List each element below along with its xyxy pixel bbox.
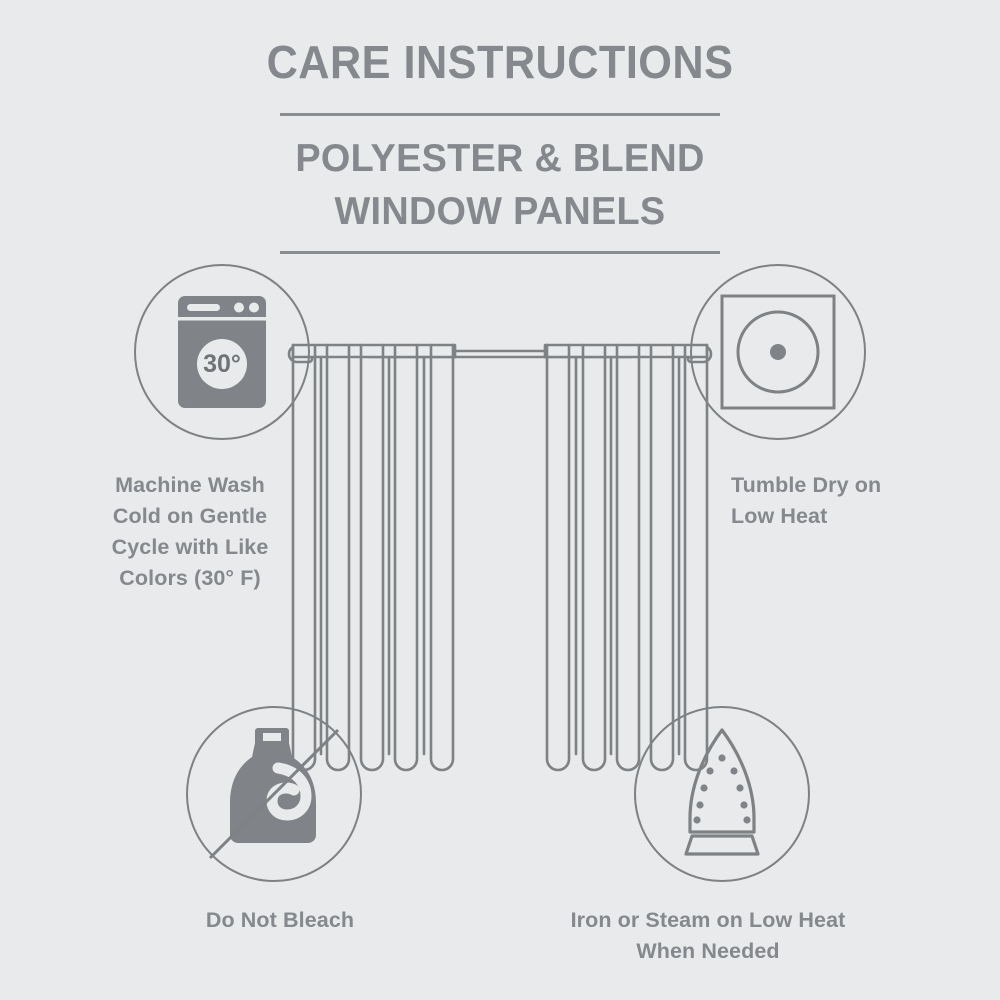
divider-bottom: [280, 251, 720, 254]
label-line: Colors (30° F): [60, 563, 320, 594]
washing-machine-icon: 30°: [134, 264, 310, 440]
tumble-dry-low-icon: [690, 264, 866, 440]
label-line: Cycle with Like: [60, 532, 320, 563]
instruction-icon-machine-wash: 30°: [134, 264, 310, 440]
instruction-label-iron: Iron or Steam on Low Heat When Needed: [528, 905, 888, 967]
instruction-label-machine-wash: Machine Wash Cold on Gentle Cycle with L…: [60, 470, 320, 594]
label-line: Tumble Dry on: [731, 470, 981, 501]
label-line: Low Heat: [731, 501, 981, 532]
wash-temperature-label: 30°: [203, 350, 241, 378]
no-bleach-icon: [186, 706, 362, 882]
label-line: Do Not Bleach: [155, 905, 405, 936]
label-line: Cold on Gentle: [60, 501, 320, 532]
label-line: Iron or Steam on Low Heat: [528, 905, 888, 936]
subtitle-line-1: POLYESTER & BLEND: [15, 132, 985, 185]
instruction-icon-tumble-dry: [690, 264, 866, 440]
subtitle-line-2: WINDOW PANELS: [15, 185, 985, 238]
divider-top: [280, 113, 720, 116]
care-instructions-infographic: CARE INSTRUCTIONS POLYESTER & BLEND WIND…: [0, 0, 1000, 1000]
instruction-icon-iron: [634, 706, 810, 882]
instruction-label-do-not-bleach: Do Not Bleach: [155, 905, 405, 936]
instruction-label-tumble-dry: Tumble Dry on Low Heat: [731, 470, 981, 532]
label-line: When Needed: [528, 936, 888, 967]
iron-steam-icon: [634, 706, 810, 882]
page-subtitle: POLYESTER & BLEND WINDOW PANELS: [15, 132, 985, 238]
label-line: Machine Wash: [60, 470, 320, 501]
page-title: CARE INSTRUCTIONS: [30, 36, 970, 88]
instruction-icon-do-not-bleach: [186, 706, 362, 882]
